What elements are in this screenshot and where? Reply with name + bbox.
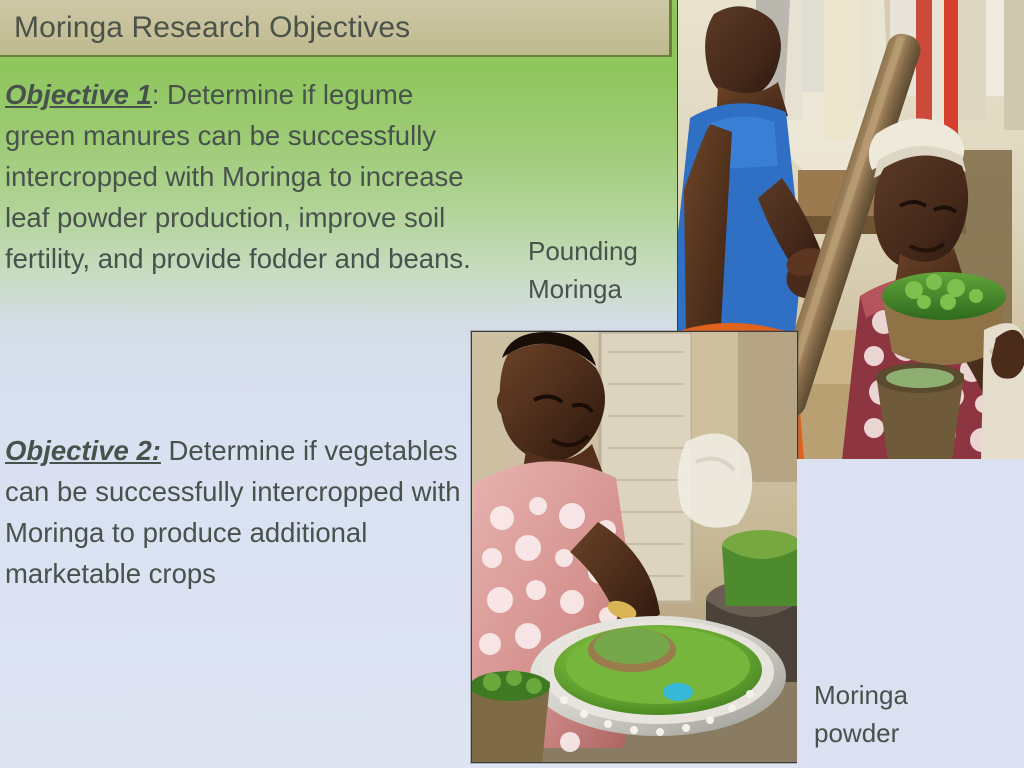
caption-pounding-line1: Pounding bbox=[528, 232, 678, 270]
caption-pounding-line2: Moringa bbox=[528, 270, 678, 308]
green-basin bbox=[530, 616, 786, 736]
moringa-powder-illustration bbox=[472, 332, 798, 763]
slide-canvas: Moringa Research Objectives Objective 1:… bbox=[0, 0, 1024, 768]
caption-moringa-powder-box: Moringa powder bbox=[797, 459, 1024, 768]
wooden-mortar bbox=[876, 363, 964, 460]
objective-1-paragraph: Objective 1: Determine if legume green m… bbox=[5, 74, 483, 279]
slide-title-bar: Moringa Research Objectives bbox=[0, 0, 672, 57]
caption-pounding-moringa: Pounding Moringa bbox=[528, 232, 678, 308]
caption-powder-line2: powder bbox=[814, 714, 1014, 752]
page-title: Moringa Research Objectives bbox=[0, 11, 410, 45]
caption-powder-line1: Moringa bbox=[814, 676, 1014, 714]
objective-2-paragraph: Objective 2: Determine if vegetables can… bbox=[5, 430, 483, 594]
moringa-powder-photo bbox=[471, 331, 798, 763]
objective-1-label: Objective 1 bbox=[5, 79, 152, 110]
objective-2-label: Objective 2: bbox=[5, 435, 161, 466]
